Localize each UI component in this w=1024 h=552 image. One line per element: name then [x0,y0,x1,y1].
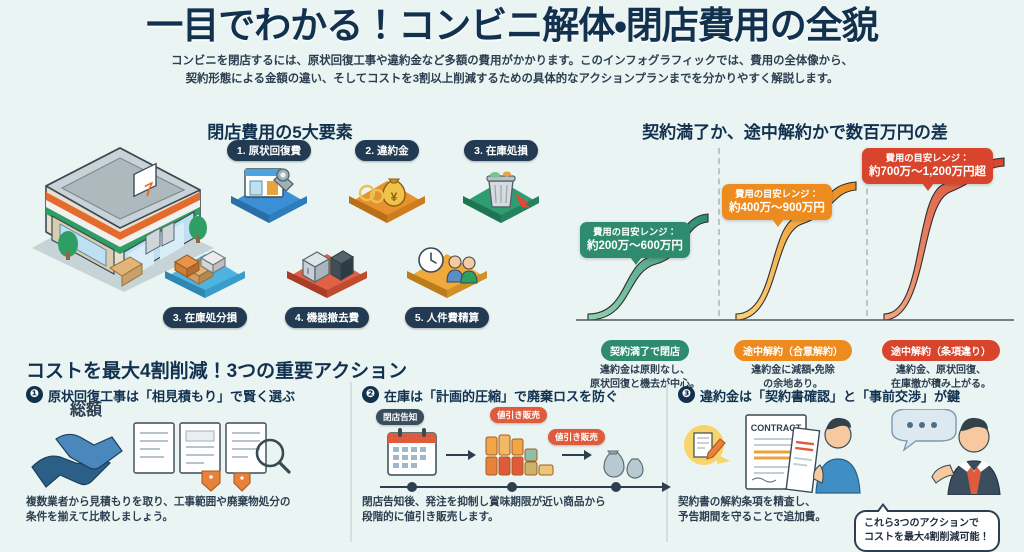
handshake-documents-icon [26,409,348,495]
action-3-desc: 契約書の解約条項を精査し、 予告期間を守ることで追加費。 [678,495,864,526]
contract-negotiation-icon: CONTRACT [678,409,1014,495]
action-card-2[interactable]: ❷在庫は「計画的圧縮」で廃棄ロスを防ぐ 閉店告知 値引き販売 値引き販売 [362,386,684,544]
cost-range-callout-1: 費用の目安レンジ： 約200万〜600万円 [580,222,690,258]
action-1-desc-line2: 条件を揃えて比較しましょう。 [26,510,348,525]
action-3-illustration: CONTRACT [678,409,1014,495]
lead-line-1: コンビニを閉店するには、原状回復工事や違約金など多額の費用がかかります。このイン… [92,53,932,71]
cost-item-3-bottom[interactable]: 3. 在庫処分損 [150,238,260,330]
cost-item-4-label: 4. 機器撤去費 [285,307,369,328]
cost-item-3-top-label: 3. 在庫処損 [464,140,538,161]
action-3-desc-line1: 契約書の解約条項を精査し、 [678,495,864,510]
equipment-removal-icon [279,238,375,300]
action-1-illustration [26,409,348,495]
action-2-desc: 閉店告知後、発注を抑制し賞味期限が近い商品から 段階的に値引き販売します。 [362,495,684,526]
action-3-title-row: ❸違約金は「契約書確認」と「事前交渉」が鍵 [678,386,1014,405]
svg-text:¥: ¥ [391,190,398,204]
action-2-number: ❷ [362,386,379,403]
lead-paragraph: コンビニを閉店するには、原状回復工事や違約金など多額の費用がかかります。このイン… [92,53,932,88]
action-2-title: 在庫は「計画的圧縮」で廃棄ロスを防ぐ [384,389,618,404]
callout-1-line1: 費用の目安レンジ： [587,226,683,239]
action-2-illustration: 閉店告知 値引き販売 値引き販売 [362,409,684,495]
action-3-number: ❸ [678,386,695,403]
infographic-page: 一目でわかる！コンビニ解体・閉店費用の全貌 コンビニを閉店するには、原状回復工事… [0,0,1024,546]
cost-item-3-top[interactable]: 3. 在庫処損 [446,140,556,230]
callout-2-line2: 約400万〜900万円 [729,201,825,217]
action-2-desc-line1: 閉店告知後、発注を抑制し賞味期限が近い商品から [362,495,684,510]
contract-comparison-section: 契約満了か、途中解約かで数百万円の差 [566,118,1024,348]
lead-line-2: 契約形態による金額の違い、そしてコストを3割以上削減するための具体的なアクション… [92,71,932,89]
stacked-boxes-icon [157,238,253,300]
cost-item-4[interactable]: 4. 機器撤去費 [272,238,382,330]
action-1-desc: 複数業者から見積もりを取り、工事範囲や廃棄物処分の 条件を揃えて比較しましょう。 [26,495,348,526]
callout-3-line1: 費用の目安レンジ： [869,152,986,165]
bubble-line-1: これら3つのアクションで [864,517,990,531]
action-card-3[interactable]: ❸違約金は「契約書確認」と「事前交渉」が鍵 CONTRACT [678,386,1014,544]
comparison-title: 契約満了か、途中解約かで数百万円の差 [566,118,1024,143]
actions-title: コストを最大4割削減！3つの重要アクション [26,356,407,383]
header: 一目でわかる！コンビニ解体・閉店費用の全貌 コンビニを閉店するには、原状回復工事… [0,0,1024,88]
money-bag-icon: ¥ [339,163,435,225]
trash-bin-icon [453,163,549,225]
action-1-title-row: ❶原状回復工事は「相見積もり」で賢く選ぶ [26,386,348,405]
action-2-desc-line2: 段階的に値引き販売します。 [362,510,684,525]
cost-range-callout-2: 費用の目安レンジ： 約400万〜900万円 [722,184,832,220]
bubble-line-2: コストを最大4割削減可能！ [864,531,990,545]
action-card-1[interactable]: ❶原状回復工事は「相見積もり」で賢く選ぶ [26,386,348,544]
cost-item-5-label: 5. 人件費精算 [405,307,489,328]
action-3-title: 違約金は「契約書確認」と「事前交渉」が鍵 [700,389,960,404]
comparison-chart: 費用の目安レンジ： 約200万〜600万円 費用の目安レンジ： 約400万〜90… [570,144,1020,319]
staff-clock-icon [399,238,495,300]
action-3-desc-line2: 予告期間を守ることで追加費。 [678,510,864,525]
cost-range-callout-3: 費用の目安レンジ： 約700万〜1,200万円超 [862,148,993,184]
action-1-number: ❶ [26,386,43,403]
page-title: 一目でわかる！コンビニ解体・閉店費用の全貌 [0,6,1024,46]
cost-item-2[interactable]: 2. 違約金 ¥ [332,140,442,230]
storefront-wrench-icon [221,163,317,225]
action-1-desc-line1: 複数業者から見積もりを取り、工事範囲や廃棄物処分の [26,495,348,510]
cost-item-1[interactable]: 1. 原状回復費 [214,140,324,230]
action-2-title-row: ❷在庫は「計画的圧縮」で廃棄ロスを防ぐ [362,386,684,405]
callout-1-line2: 約200万〜600万円 [587,239,683,255]
callout-2-line1: 費用の目安レンジ： [729,188,825,201]
cost-item-3-bottom-label: 3. 在庫処分損 [163,307,247,328]
callout-3-line2: 約700万〜1,200万円超 [869,165,986,181]
cost-item-1-label: 1. 原状回復費 [227,140,311,161]
action-1-title: 原状回復工事は「相見積もり」で賢く選ぶ [48,389,295,404]
inventory-timeline-icon [362,409,684,495]
actions-section: コストを最大4割削減！3つの重要アクション ❶原状回復工事は「相見積もり」で賢く… [0,352,1024,546]
five-elements-section: 閉店費用の5大要素 7 [0,118,560,348]
actions-divider-1 [350,382,352,542]
cost-item-2-label: 2. 違約金 [355,140,418,161]
cost-item-5[interactable]: 5. 人件費精算 [392,238,502,330]
